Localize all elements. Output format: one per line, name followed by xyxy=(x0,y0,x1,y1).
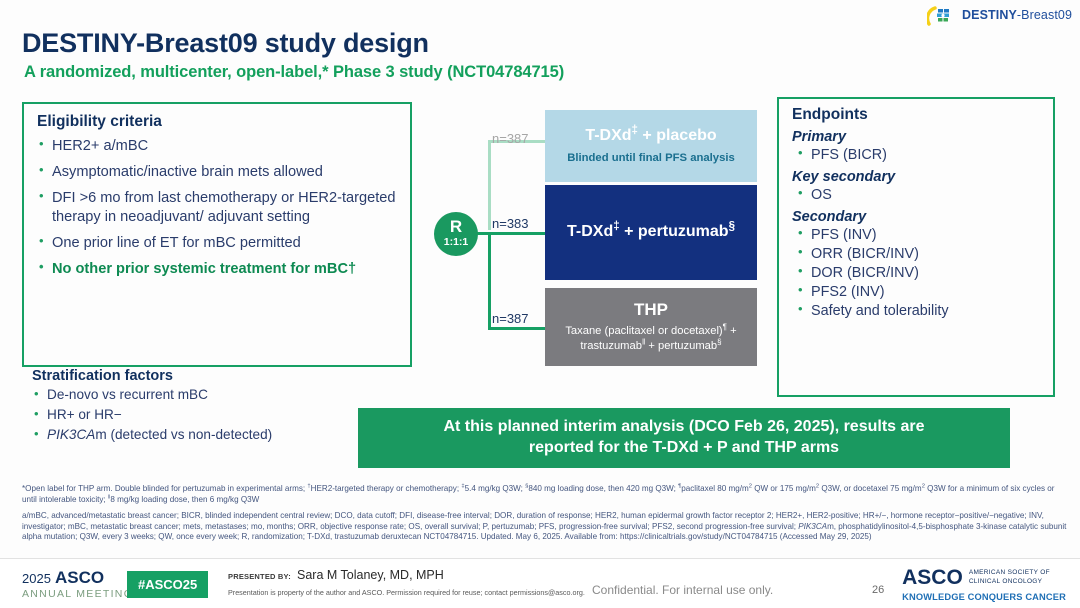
list-item: PIK3CAm (detected vs non-detected) xyxy=(32,427,372,444)
destiny-breast09-logo: DESTINY-Breast09 xyxy=(927,4,1072,26)
footnote-abbreviations: a/mBC, advanced/metastatic breast cancer… xyxy=(22,511,1068,543)
asco-wordmark: ASCO xyxy=(55,568,104,587)
page-subtitle: A randomized, multicenter, open-label,* … xyxy=(24,63,564,82)
list-item: HR+ or HR− xyxy=(32,407,372,424)
arm-title: THP xyxy=(634,300,668,320)
list-item: Safety and tolerability xyxy=(796,302,1053,320)
stratification-heading: Stratification factors xyxy=(32,368,372,384)
list-item: PFS2 (INV) xyxy=(796,283,1053,301)
presenter-name: Sara M Tolaney, MD, MPH xyxy=(297,568,444,582)
permission-notice: Presentation is property of the author a… xyxy=(228,588,585,597)
randomization-ratio: 1:1:1 xyxy=(444,235,469,251)
list-item-highlighted: No other prior systemic treatment for mB… xyxy=(37,260,400,278)
asco-society-name: AMERICAN SOCIETY OF CLINICAL ONCOLOGY xyxy=(969,569,1050,587)
asco-year: 2025 xyxy=(22,571,51,586)
endpoints-group-label: Key secondary xyxy=(792,169,1053,185)
banner-line-2: reported for the T-DXd + P and THP arms xyxy=(529,439,839,456)
randomization-letter: R xyxy=(450,218,462,235)
connector-arm-2-vertical xyxy=(488,232,491,330)
asco-annual-meeting-logo: 2025 ASCO ANNUAL MEETING xyxy=(22,569,133,600)
list-item: DOR (BICR/INV) xyxy=(796,264,1053,282)
arm-title: T-DXd‡ + placebo xyxy=(585,127,716,145)
list-item: One prior line of ET for mBC permitted xyxy=(37,234,400,252)
presented-by-label: PRESENTED BY: xyxy=(228,572,291,581)
asco-logo: ASCO AMERICAN SOCIETY OF CLINICAL ONCOLO… xyxy=(902,567,1066,602)
connector-arm-0-vertical xyxy=(488,140,491,230)
list-item: Asymptomatic/inactive brain mets allowed xyxy=(37,163,400,181)
eligibility-list: HER2+ a/mBC Asymptomatic/inactive brain … xyxy=(37,137,400,278)
stratification-list: De-novo vs recurrent mBC HR+ or HR− PIK3… xyxy=(32,387,372,444)
conference-hashtag: #ASCO25 xyxy=(127,571,208,598)
asco-meeting-label: ANNUAL MEETING xyxy=(22,589,133,600)
treatment-arm-tdxd-placebo: T-DXd‡ + placebo Blinded until final PFS… xyxy=(545,110,757,182)
interim-analysis-banner: At this planned interim analysis (DCO Fe… xyxy=(358,408,1010,468)
asco-tagline: KNOWLEDGE CONQUERS CANCER xyxy=(902,592,1066,602)
list-item: De-novo vs recurrent mBC xyxy=(32,387,372,404)
endpoints-group-label: Primary xyxy=(792,129,1053,145)
n-label-arm-2: n=387 xyxy=(492,311,529,326)
n-label-arm-0: n=387 xyxy=(492,131,529,146)
connector-arm-2-horizontal xyxy=(488,327,545,330)
slide-footer: 2025 ASCO ANNUAL MEETING #ASCO25 PRESENT… xyxy=(0,558,1080,608)
endpoints-heading: Endpoints xyxy=(792,106,1053,124)
endpoints-key-secondary-list: OS xyxy=(796,186,1053,204)
list-item: PFS (INV) xyxy=(796,226,1053,244)
endpoints-secondary-list: PFS (INV) ORR (BICR/INV) DOR (BICR/INV) … xyxy=(796,226,1053,320)
list-item: DFI >6 mo from last chemotherapy or HER2… xyxy=(37,189,400,225)
endpoints-primary-list: PFS (BICR) xyxy=(796,146,1053,164)
treatment-arm-thp: THP Taxane (paclitaxel or docetaxel)¶ + … xyxy=(545,288,757,366)
footnote-symbols: *Open label for THP arm. Double blinded … xyxy=(22,484,1068,505)
eligibility-criteria-box: Eligibility criteria HER2+ a/mBC Asympto… xyxy=(22,102,412,367)
page-title: DESTINY-Breast09 study design xyxy=(22,28,429,59)
slide-canvas: DESTINY-Breast09 DESTINY-Breast09 study … xyxy=(0,0,1080,608)
arm-subtitle: Blinded until final PFS analysis xyxy=(567,152,735,166)
brand-label: DESTINY-Breast09 xyxy=(962,8,1072,22)
endpoints-box: Endpoints Primary PFS (BICR) Key seconda… xyxy=(777,97,1055,397)
list-item: ORR (BICR/INV) xyxy=(796,245,1053,263)
destiny-fan-icon xyxy=(927,4,957,26)
confidentiality-notice: Confidential. For internal use only. xyxy=(592,583,773,597)
list-item: OS xyxy=(796,186,1053,204)
randomization-node: R 1:1:1 xyxy=(434,212,478,256)
eligibility-heading: Eligibility criteria xyxy=(37,113,410,131)
stratification-factors: Stratification factors De-novo vs recurr… xyxy=(32,368,372,447)
list-item: PFS (BICR) xyxy=(796,146,1053,164)
endpoints-group-label: Secondary xyxy=(792,209,1053,225)
page-number: 26 xyxy=(872,584,884,596)
list-item: HER2+ a/mBC xyxy=(37,137,400,155)
arm-detail: Taxane (paclitaxel or docetaxel)¶ + tras… xyxy=(545,324,757,354)
arm-title: T-DXd‡ + pertuzumab§ xyxy=(567,223,735,241)
n-label-arm-1: n=383 xyxy=(492,216,529,231)
treatment-arm-tdxd-pertuzumab: T-DXd‡ + pertuzumab§ xyxy=(545,185,757,280)
banner-line-1: At this planned interim analysis (DCO Fe… xyxy=(443,418,924,435)
asco-wordmark: ASCO xyxy=(902,567,963,588)
